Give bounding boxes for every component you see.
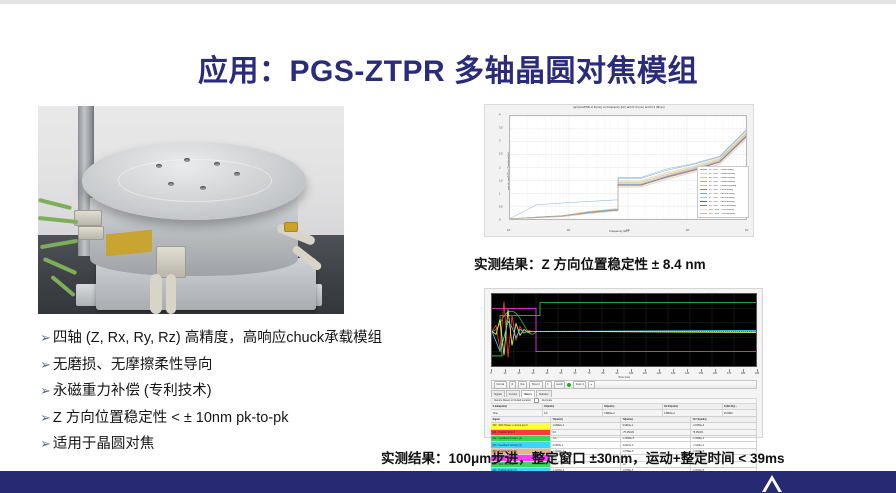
column-header: X2(units) — [603, 404, 663, 409]
autofit-button[interactable]: Autofit — [554, 381, 566, 389]
legend-swatch — [700, 169, 707, 170]
legend-swatch — [700, 173, 707, 174]
product-photo — [38, 106, 344, 314]
legend-label: #10 : 2nm : TheTwo0deg — [709, 209, 734, 211]
column-header: X2-X1(units) — [663, 404, 723, 409]
run-button[interactable]: Run — [518, 381, 527, 389]
list-item: ➢ 无磨损、无摩擦柔性导向 — [40, 355, 440, 376]
x-tick-label: 10³ — [686, 229, 690, 232]
decimate-label: Decimate — [542, 399, 552, 402]
legend-label: #3 : 0nm : TheZero90deg — [709, 181, 735, 183]
table-cell: -4.1953e-4 — [691, 423, 757, 428]
legend-label: #7 : 1nm : TheOne60deg — [709, 197, 735, 199]
legend-swatch — [700, 201, 707, 202]
scope-xlabel: Time (ms) — [491, 376, 757, 379]
bullet-text: Z 方向位置稳定性 < ± 10nm pk-to-pk — [53, 408, 289, 429]
figure1-caption: 实测结果：Z 方向位置稳定性 ± 8.4 nm — [474, 253, 706, 273]
scope-time-axis: 0 10 20 30 40 50 60 70 80 90 100 110 120… — [491, 369, 757, 379]
photo-bolt-hole — [234, 172, 240, 176]
table-cell: -1.0000e-1 — [621, 436, 691, 441]
legend-swatch — [700, 189, 707, 190]
legend-label: #5 : 1nm : TheOne0deg — [709, 189, 733, 191]
feature-bullet-list: ➢ 四轴 (Z, Rx, Ry, Rz) 高精度，高响应chuck承载模组 ➢ … — [40, 328, 440, 461]
legend-swatch — [700, 205, 707, 206]
bullet-text: 无磨损、无摩擦柔性导向 — [53, 355, 213, 376]
legend-label: #11 : 2nm : TheTwo30deg — [709, 213, 735, 215]
x-tick-label: 10² — [626, 229, 630, 232]
legend-swatch — [700, 213, 707, 214]
y-tick-label: 1.5 — [499, 179, 503, 182]
table-cell: -9.9962e-1 — [551, 423, 621, 428]
table-cell: 3.8800e-2 — [603, 410, 663, 415]
bullet-text: 四轴 (Z, Rx, Ry, Rz) 高精度，高响应chuck承载模组 — [53, 328, 382, 349]
legend-label: #6 : 1nm : TheOne30deg — [709, 193, 735, 195]
legend-swatch — [700, 177, 707, 178]
legend-label: #2 : 0nm : TheZero60deg — [709, 177, 735, 179]
column-header: X data(units) — [491, 404, 543, 409]
list-item: ➢ 永磁重力补偿 (专利技术) — [40, 381, 440, 402]
chart-title: sqrt(cumPSD of Z(nm)) vs Frequency (Hz) … — [485, 106, 753, 109]
top-strip — [0, 0, 896, 4]
slide-root: 应用：PGS-ZTPR 多轴晶圆对焦模组 ➢ 四轴 (Z, R — [0, 0, 896, 493]
legend-swatch — [700, 181, 707, 182]
legend-item: #11 : 2nm : TheTwo30deg — [700, 212, 746, 216]
legend-label: #0 : 0nm : TheZero0deg — [709, 169, 734, 171]
signal-name-cell: #02 : Feedback Position (X) — [491, 436, 551, 441]
column-header: Signal — [491, 417, 551, 422]
column-header: X1(units) — [543, 404, 603, 409]
bullet-text: 永磁重力补偿 (专利技术) — [53, 381, 212, 402]
column-header: 1/(X2-X1)(... — [723, 404, 757, 409]
tab-meters[interactable]: Meters — [521, 390, 535, 397]
x-tick-label: 10¹ — [567, 229, 571, 232]
y-tick-label: 2.5 — [499, 153, 503, 156]
cumulative-psd-chart: sqrt(cumPSD of Z(nm)) vs Frequency (Hz) … — [484, 104, 754, 237]
zoom-button[interactable]: Zoom 4 — [573, 381, 586, 389]
scope-svg — [492, 294, 756, 366]
table-cell: 75.1501% — [691, 430, 757, 435]
legend-swatch — [700, 185, 707, 186]
photo-dsub-connector — [78, 226, 104, 240]
table-cell: -75.1501% — [621, 430, 691, 435]
scope-plot — [491, 293, 757, 367]
photo-brass-fitting — [284, 222, 298, 232]
legend-swatch — [700, 197, 707, 198]
tab-signals[interactable]: Signals — [491, 390, 505, 397]
column-header: Y2(units) — [621, 417, 691, 422]
table-cell: 25.8640 — [723, 410, 757, 415]
column-header: Y1(units) — [551, 417, 621, 422]
chart-legend: #0 : 0nm : TheZero0deg #1 : 0nm : TheZer… — [697, 166, 749, 218]
status-indicator — [567, 383, 571, 387]
bullet-arrow-icon: ➢ — [40, 434, 51, 454]
legend-swatch — [700, 193, 707, 194]
decimate-checkbox[interactable] — [534, 398, 539, 403]
delta-triangle-logo-icon — [760, 473, 784, 493]
page-title: 应用：PGS-ZTPR 多轴晶圆对焦模组 — [0, 46, 896, 90]
tab-cursors[interactable]: Cursors — [506, 390, 520, 397]
photo-bolt-hole — [184, 158, 190, 162]
bullet-arrow-icon: ➢ — [40, 408, 51, 428]
table-cell: -1.0000e-1 — [691, 436, 757, 441]
y-tick-label: 1 — [499, 192, 500, 195]
list-item: ➢ 适用于晶圆对焦 — [40, 434, 440, 455]
more-button[interactable]: ▸ — [588, 381, 594, 389]
table-cell: 3.8800e-2 — [663, 410, 723, 415]
table-cell: 9.9924e-1 — [621, 423, 691, 428]
photo-chuck-disc — [82, 142, 306, 220]
scope-toolbar[interactable]: Normal ⚙ Run Show X ↻ Autofit Zoom 4 ▸ — [491, 380, 757, 389]
list-item: ➢ Z 方向位置稳定性 < ± 10nm pk-to-pk — [40, 408, 440, 429]
table-cell: Time — [491, 410, 543, 415]
y-tick-label: 0 — [499, 219, 500, 222]
mode-dropdown[interactable]: Normal — [494, 381, 507, 389]
bullet-arrow-icon: ➢ — [40, 355, 51, 375]
photo-cable — [150, 274, 162, 314]
legend-label: #1 : 0nm : TheZero30deg — [709, 173, 735, 175]
table-cell: 0.0 — [551, 430, 621, 435]
footer-band — [0, 471, 896, 493]
y-tick-label: 3.5 — [499, 127, 503, 130]
figure2-caption: 实测结果：100μm步进，整定窗口 ±30nm，运动+整定时间 < 39ms — [381, 447, 785, 467]
column-header: Y2-Y1(units) — [691, 417, 757, 422]
photo-dsub-connector — [74, 210, 102, 226]
x-tick-label: 10⁰ — [507, 229, 511, 232]
photo-cable — [166, 274, 176, 314]
photo-bolt-hole — [156, 164, 162, 168]
photo-bolt-hole — [168, 182, 174, 186]
list-item: ➢ 四轴 (Z, Rx, Ry, Rz) 高精度，高响应chuck承载模组 — [40, 328, 440, 349]
legend-label: #9 : 1nm : TheOne120deg — [709, 205, 736, 207]
photo-bolt-hole — [200, 186, 206, 190]
y-tick-label: 2 — [499, 166, 500, 169]
signal-name-cell: #01 : Position Error X — [491, 430, 551, 435]
y-tick-label: 4 — [499, 114, 500, 117]
y-tick-label: 0.5 — [499, 205, 503, 208]
bullet-arrow-icon: ➢ — [40, 328, 51, 348]
legend-swatch — [700, 209, 707, 210]
bullet-arrow-icon: ➢ — [40, 381, 51, 401]
refresh-icon[interactable]: ↻ — [545, 381, 552, 389]
settings-gear-icon[interactable]: ⚙ — [509, 381, 516, 389]
bullet-text: 适用于晶圆对焦 — [53, 434, 155, 455]
y-tick-label: 3 — [499, 140, 500, 143]
photo-bolt-hole — [214, 162, 220, 166]
tab-statistics[interactable]: Statistics — [536, 390, 552, 397]
restore-meters-bar[interactable]: Restore Meters to Default Location Decim… — [491, 398, 757, 404]
chart-xlabel: Frequency (Hz) — [485, 229, 753, 233]
signal-name-cell: #00 : SRC Phase x-current pos X — [491, 423, 551, 428]
table-cell: -0.1 — [551, 436, 621, 441]
panel-tabs[interactable]: SignalsCursorsMetersStatistics — [491, 390, 757, 397]
restore-meters-label[interactable]: Restore Meters to Default Location — [494, 399, 531, 402]
motion-analyzer-screenshot: 0 10 20 30 40 50 60 70 80 90 100 110 120… — [484, 288, 763, 438]
legend-label: #8 : 1nm : TheOne90deg — [709, 201, 735, 203]
table-cell: 0.0 — [543, 410, 603, 415]
show-button[interactable]: Show X — [529, 381, 542, 389]
x-tick-label: 10⁴ — [745, 229, 749, 232]
legend-label: #4 : 0nm : TheZero120deg — [709, 185, 736, 187]
